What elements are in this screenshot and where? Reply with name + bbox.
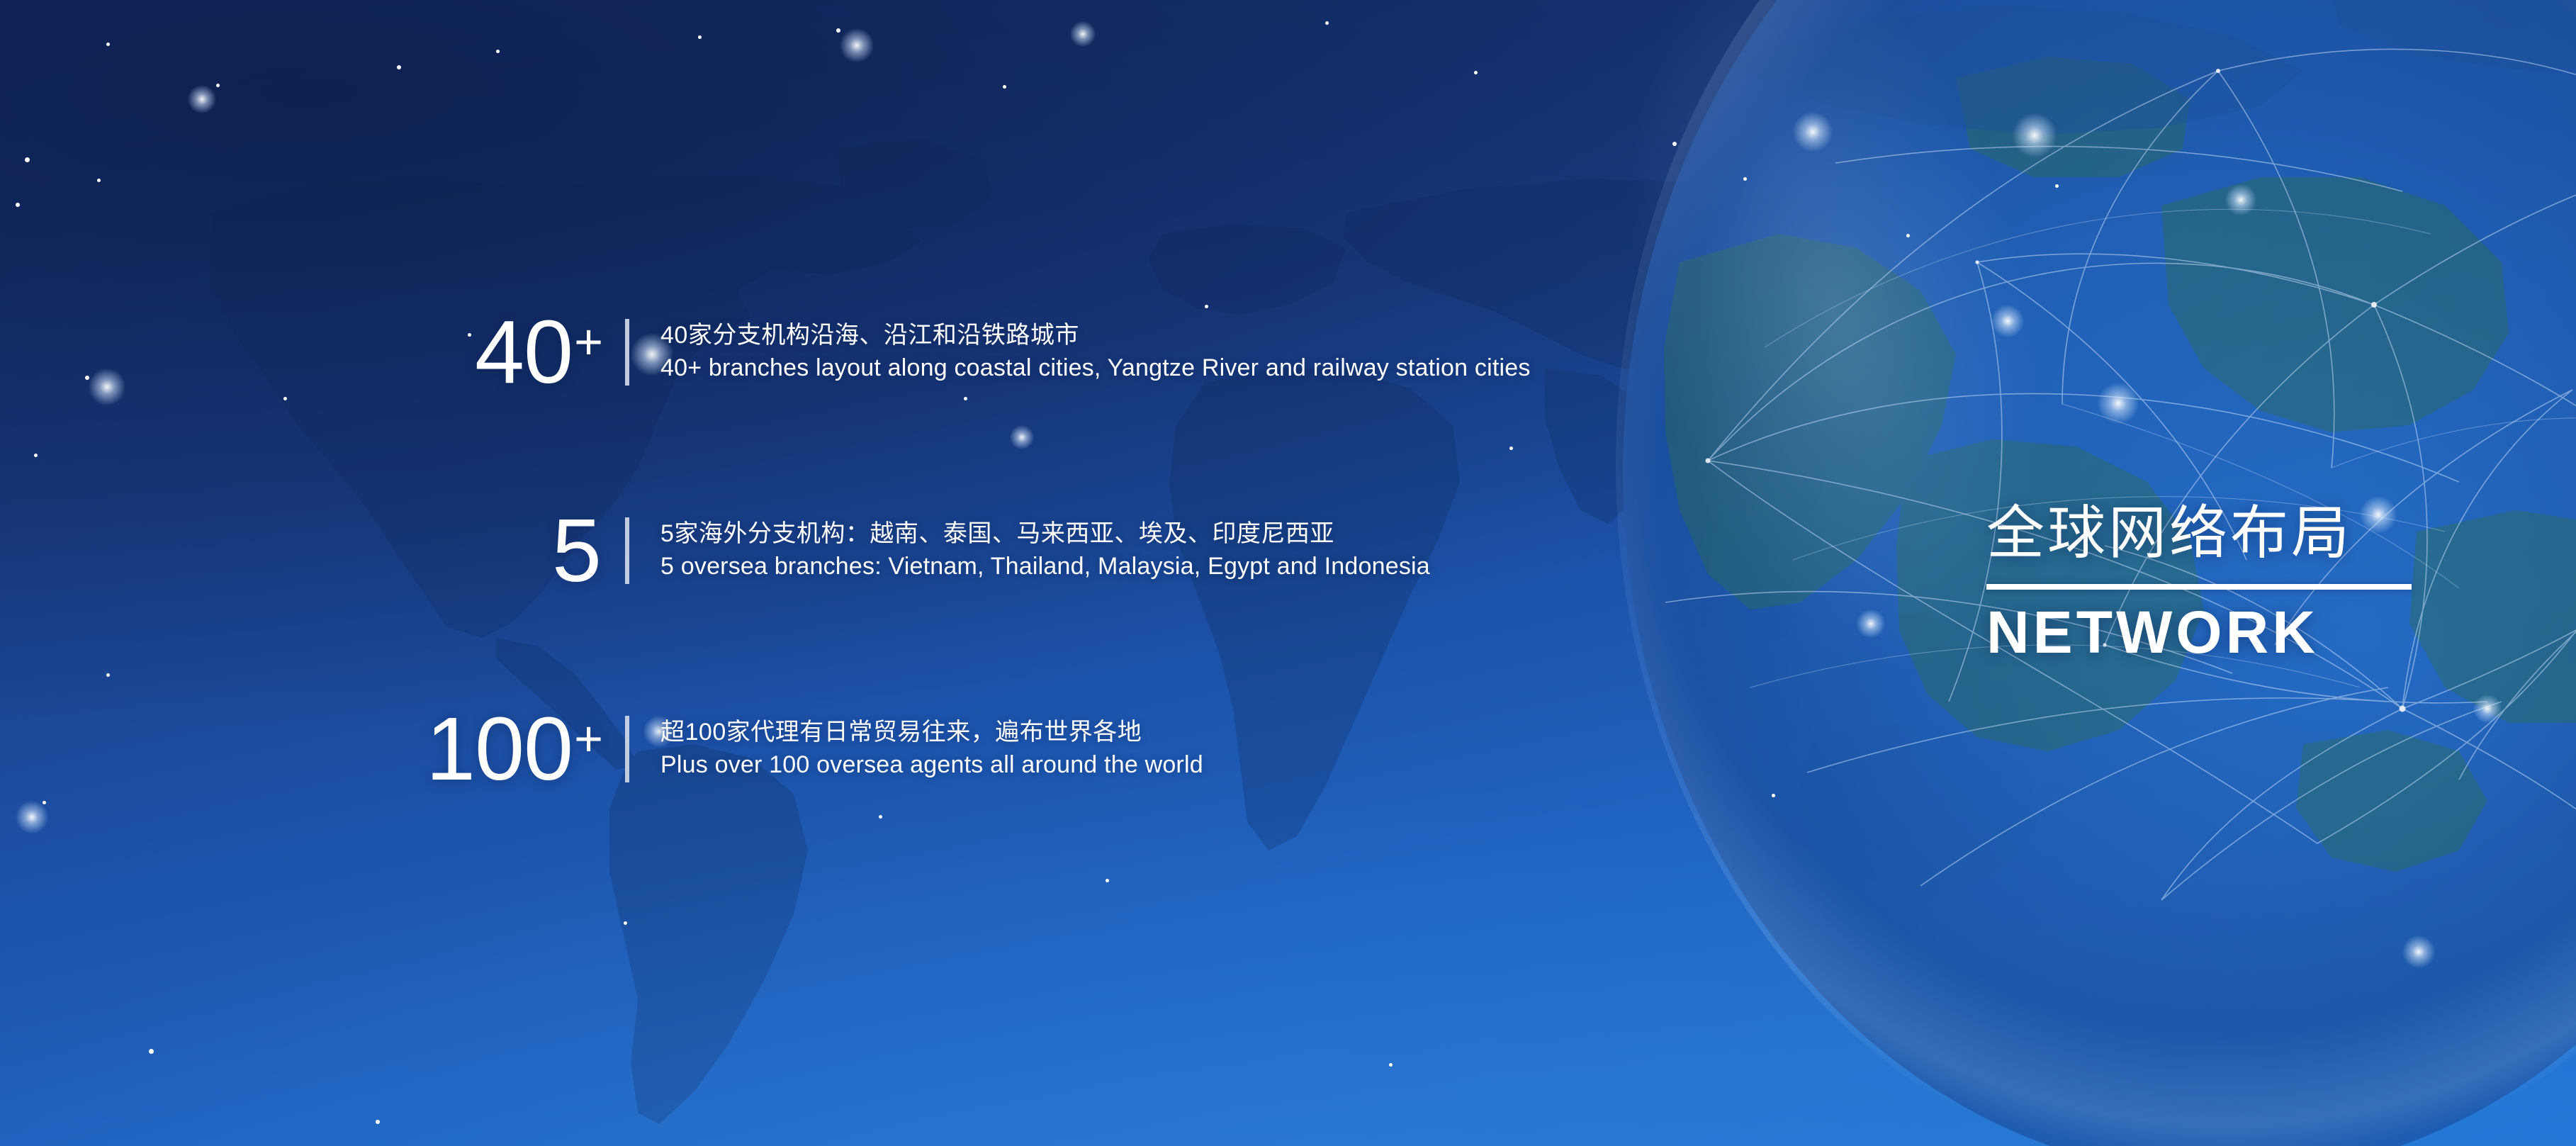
stat-description-en: 40+ branches layout along coastal cities…	[660, 352, 1531, 385]
stat-description-cn: 5家海外分支机构：越南、泰国、马来西亚、埃及、印度尼西亚	[660, 518, 1430, 551]
stat-number: 5	[177, 503, 602, 598]
network-title-block: 全球网络布局 NETWORK	[1986, 505, 2412, 664]
stat-description: 40家分支机构沿海、沿江和沿铁路城市 40+ branches layout a…	[660, 320, 1531, 384]
stat-number-suffix: +	[574, 711, 602, 766]
stat-description-en: 5 oversea branches: Vietnam, Thailand, M…	[660, 551, 1430, 583]
stat-number-suffix: +	[574, 314, 602, 369]
stat-divider	[625, 716, 629, 782]
network-title-en: NETWORK	[1986, 601, 2412, 664]
stat-row: 100+ 超100家代理有日常贸易往来，遍布世界各地 Plus over 100…	[177, 702, 1203, 797]
stat-row: 5 5家海外分支机构：越南、泰国、马来西亚、埃及、印度尼西亚 5 oversea…	[177, 503, 1430, 598]
stat-description: 超100家代理有日常贸易往来，遍布世界各地 Plus over 100 over…	[660, 717, 1203, 781]
network-title-cn: 全球网络布局	[1986, 505, 2412, 563]
stats-list: 40+ 40家分支机构沿海、沿江和沿铁路城市 40+ branches layo…	[0, 0, 1630, 1146]
stat-number-value: 40	[475, 302, 573, 402]
stat-description: 5家海外分支机构：越南、泰国、马来西亚、埃及、印度尼西亚 5 oversea b…	[660, 518, 1430, 583]
stat-number: 100+	[177, 702, 602, 797]
stat-number-value: 5	[552, 500, 601, 600]
stat-divider	[625, 319, 629, 386]
stat-divider	[625, 517, 629, 584]
stat-row: 40+ 40家分支机构沿海、沿江和沿铁路城市 40+ branches layo…	[177, 305, 1531, 400]
title-rule	[1986, 584, 2412, 590]
stat-description-cn: 超100家代理有日常贸易往来，遍布世界各地	[660, 717, 1203, 749]
stat-description-cn: 40家分支机构沿海、沿江和沿铁路城市	[660, 320, 1531, 352]
stat-number-value: 100	[426, 699, 573, 799]
stat-description-en: Plus over 100 oversea agents all around …	[660, 749, 1203, 782]
network-banner: 40+ 40家分支机构沿海、沿江和沿铁路城市 40+ branches layo…	[0, 0, 2576, 1146]
stat-number: 40+	[177, 305, 602, 400]
